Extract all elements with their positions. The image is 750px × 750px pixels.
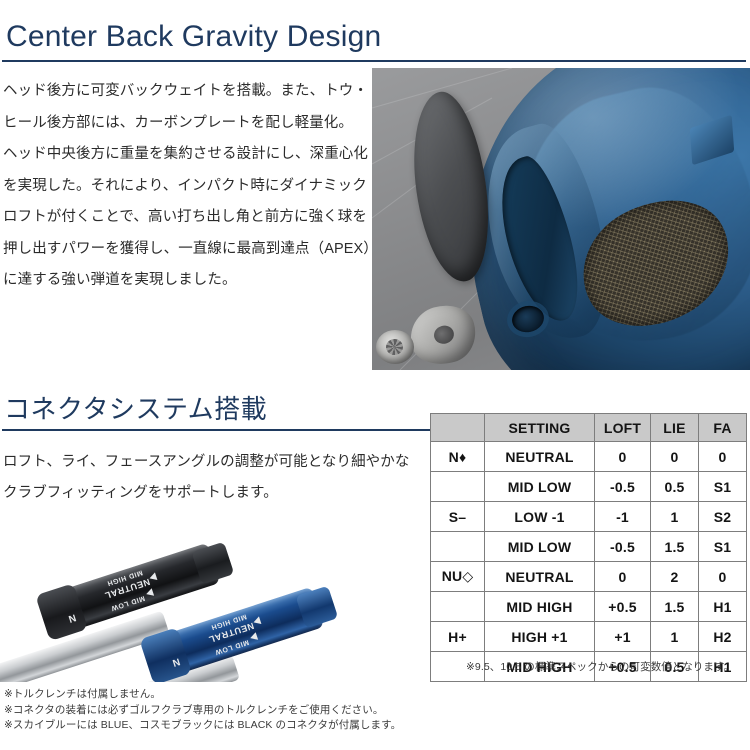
body-line: クラブフィッティングをサポートします。 bbox=[3, 478, 403, 509]
table-row: NU◇ NEUTRAL 0 2 0 bbox=[431, 562, 747, 592]
connector-sleeves-image: MID HIGH NEUTRAL MID LOW N MID HIGH NEUT… bbox=[0, 506, 420, 682]
cell-loft: 0 bbox=[595, 562, 651, 592]
cell-lie: 1 bbox=[651, 622, 699, 652]
cell-code: NU◇ bbox=[431, 562, 485, 592]
body-line: ロフトが付くことで、高い打ち出し角と前方に強く球を bbox=[3, 202, 369, 234]
table-header-row: SETTING LOFT LIE FA bbox=[431, 414, 747, 442]
cell-code bbox=[431, 472, 485, 502]
table-row: MID LOW -0.5 0.5 S1 bbox=[431, 472, 747, 502]
header-loft: LOFT bbox=[595, 414, 651, 442]
section-2-title: コネクタシステム搭載 bbox=[4, 393, 267, 425]
spec-table-container: SETTING LOFT LIE FA N♦ NEUTRAL 0 0 0 MID… bbox=[430, 413, 746, 682]
body-line: ロフト、ライ、フェースアングルの調整が可能となり細やかな bbox=[3, 447, 403, 478]
body-line: を実現した。それにより、インパクト時にダイナミック bbox=[3, 171, 369, 203]
table-row: MID LOW -0.5 1.5 S1 bbox=[431, 532, 747, 562]
sleeve-cap bbox=[191, 542, 234, 585]
cell-fa: S2 bbox=[699, 502, 747, 532]
cell-code bbox=[431, 592, 485, 622]
body-line: ヘッド中央後方に重量を集約させる設計にし、深重心化 bbox=[3, 139, 369, 171]
header-code bbox=[431, 414, 485, 442]
cell-lie: 1.5 bbox=[651, 532, 699, 562]
table-row: H+ HIGH +1 +1 1 H2 bbox=[431, 622, 747, 652]
cell-setting: MID HIGH bbox=[485, 592, 595, 622]
cell-code: N♦ bbox=[431, 442, 485, 472]
sleeve-cap bbox=[295, 586, 338, 629]
cell-setting: MID LOW bbox=[485, 472, 595, 502]
product-spec-page: Center Back Gravity Design ヘッド後方に可変バックウェ… bbox=[0, 0, 750, 750]
cell-loft: +1 bbox=[595, 622, 651, 652]
sleeve-arrow-icon bbox=[148, 572, 157, 582]
cell-loft: -0.5 bbox=[595, 532, 651, 562]
section-2-body: ロフト、ライ、フェースアングルの調整が可能となり細やかな クラブフィッティングを… bbox=[3, 447, 403, 509]
setting-spec-table: SETTING LOFT LIE FA N♦ NEUTRAL 0 0 0 MID… bbox=[430, 413, 747, 682]
sleeve-arrow-icon bbox=[252, 616, 261, 626]
section-1-title: Center Back Gravity Design bbox=[6, 18, 381, 56]
section-1-body: ヘッド後方に可変バックウェイトを搭載。また、トウ・ ヒール後方部には、カーボンプ… bbox=[3, 76, 369, 297]
cell-lie: 1 bbox=[651, 502, 699, 532]
header-lie: LIE bbox=[651, 414, 699, 442]
cell-fa: H2 bbox=[699, 622, 747, 652]
footnote-line: ※トルクレンチは付属しません。 bbox=[4, 687, 424, 703]
cell-code: S– bbox=[431, 502, 485, 532]
footnotes: ※トルクレンチは付属しません。 ※コネクタの装着には必ずゴルフクラブ専用のトルク… bbox=[4, 687, 424, 734]
cell-loft: 0 bbox=[595, 442, 651, 472]
connector-sleeve-blue: MID HIGH NEUTRAL MID LOW N bbox=[150, 587, 325, 679]
cell-loft: +0.5 bbox=[595, 592, 651, 622]
cell-fa: S1 bbox=[699, 472, 747, 502]
cell-lie: 0 bbox=[651, 442, 699, 472]
cell-lie: 1.5 bbox=[651, 592, 699, 622]
cell-code: H+ bbox=[431, 622, 485, 652]
cell-setting: HIGH +1 bbox=[485, 622, 595, 652]
cell-code bbox=[431, 532, 485, 562]
table-body: N♦ NEUTRAL 0 0 0 MID LOW -0.5 0.5 S1 S– … bbox=[431, 442, 747, 682]
cell-fa: H1 bbox=[699, 592, 747, 622]
driver-head-product-image bbox=[372, 68, 750, 370]
table-row: MID HIGH +0.5 1.5 H1 bbox=[431, 592, 747, 622]
spec-table-note: ※9.5、10.5 の標準スペックからの可変数値となります。 bbox=[466, 659, 734, 674]
footnote-line: ※スカイブルーには BLUE、コスモブラックには BLACK のコネクタが付属し… bbox=[4, 718, 424, 734]
body-line: 押し出すパワーを獲得し、一直線に最高到達点（APEX） bbox=[3, 234, 369, 266]
sleeve-arrow-icon bbox=[249, 632, 258, 642]
cell-setting: NEUTRAL bbox=[485, 442, 595, 472]
header-fa: FA bbox=[699, 414, 747, 442]
cell-lie: 0.5 bbox=[651, 472, 699, 502]
body-line: ヘッド後方に可変バックウェイトを搭載。また、トウ・ bbox=[3, 76, 369, 108]
sleeve-arrow-icon bbox=[145, 588, 154, 598]
cell-loft: -0.5 bbox=[595, 472, 651, 502]
cell-lie: 2 bbox=[651, 562, 699, 592]
cell-setting: NEUTRAL bbox=[485, 562, 595, 592]
body-line: ヒール後方部には、カーボンプレートを配し軽量化。 bbox=[3, 108, 369, 140]
weight-screw bbox=[376, 330, 414, 364]
cell-fa: 0 bbox=[699, 562, 747, 592]
section-1-divider bbox=[2, 60, 746, 62]
footnote-line: ※コネクタの装着には必ずゴルフクラブ専用のトルクレンチをご使用ください。 bbox=[4, 703, 424, 719]
cell-setting: MID LOW bbox=[485, 532, 595, 562]
cell-fa: S1 bbox=[699, 532, 747, 562]
table-row: S– LOW -1 -1 1 S2 bbox=[431, 502, 747, 532]
table-row: N♦ NEUTRAL 0 0 0 bbox=[431, 442, 747, 472]
cell-fa: 0 bbox=[699, 442, 747, 472]
cell-loft: -1 bbox=[595, 502, 651, 532]
body-line: に達する強い弾道を実現しました。 bbox=[3, 265, 369, 297]
header-setting: SETTING bbox=[485, 414, 595, 442]
sleeve-collar bbox=[35, 583, 88, 641]
cell-setting: LOW -1 bbox=[485, 502, 595, 532]
